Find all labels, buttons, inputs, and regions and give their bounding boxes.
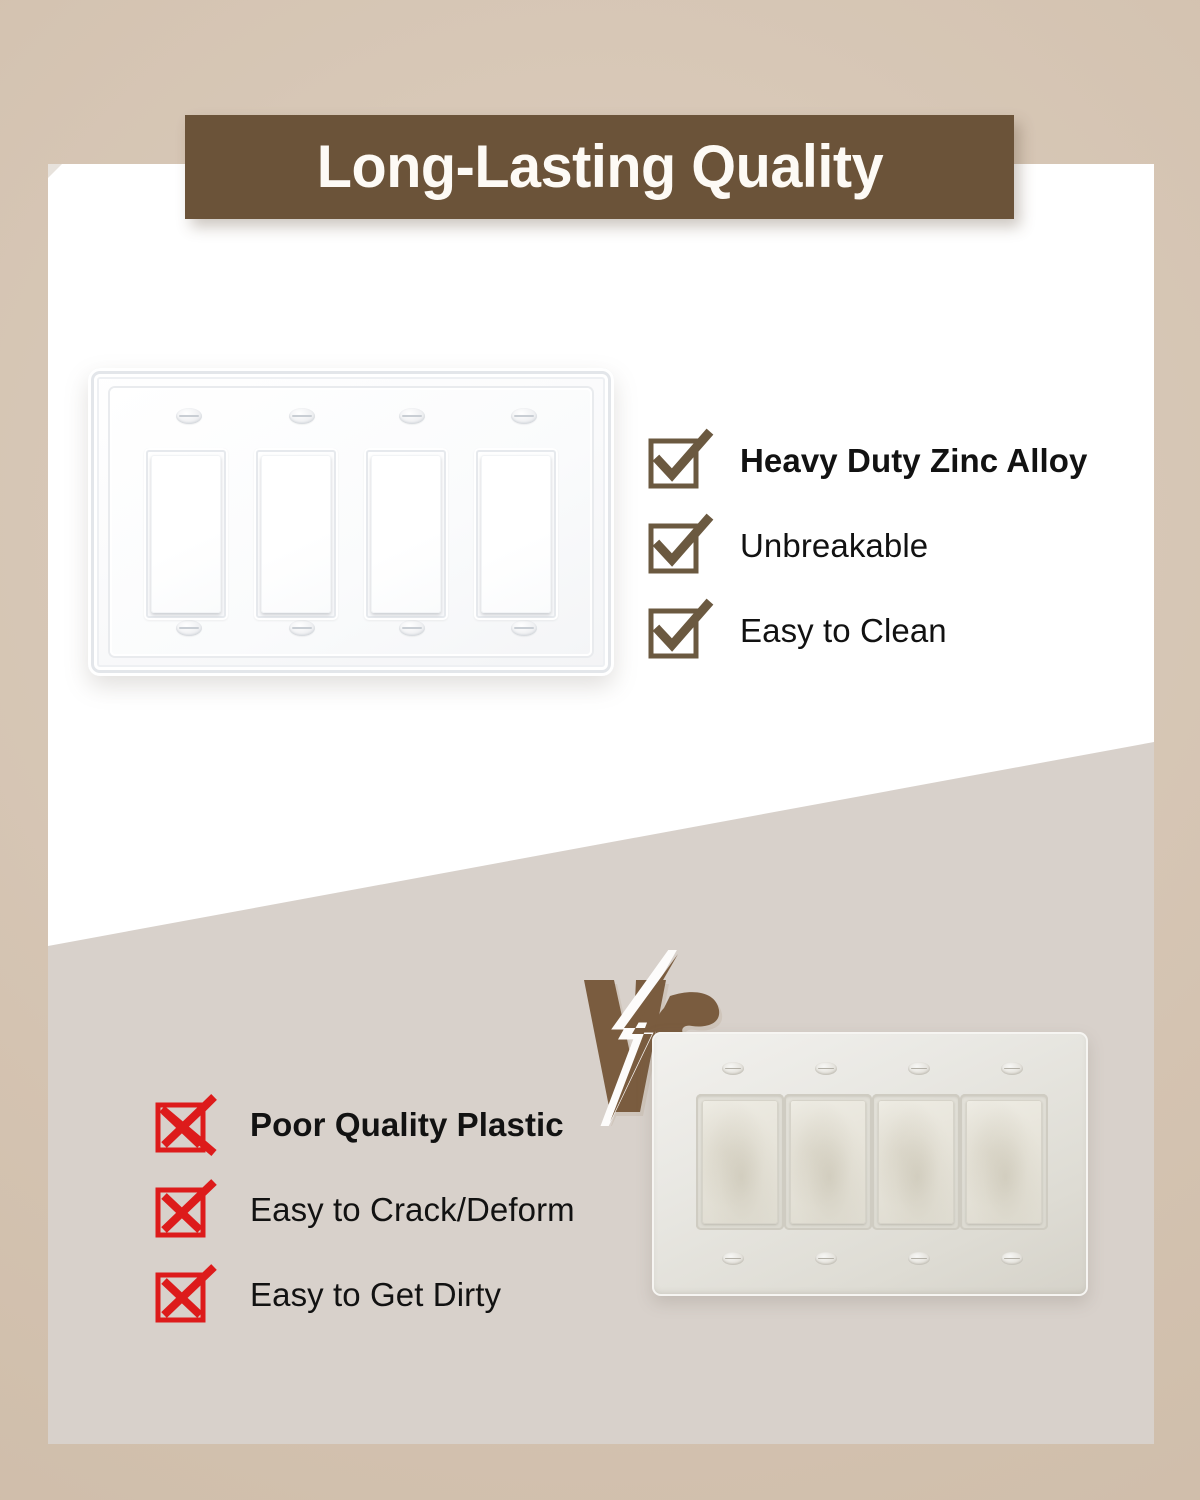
screw-icon	[908, 1252, 930, 1265]
check-box-icon	[651, 522, 698, 569]
check-box-icon	[651, 437, 698, 484]
rocker-switch	[872, 1094, 960, 1230]
rocker-switch	[254, 448, 338, 620]
feature-row: Unbreakable	[651, 503, 1087, 588]
feature-row: Easy to Clean	[651, 588, 1087, 673]
screw-icon	[176, 408, 202, 424]
screw-icon	[399, 620, 425, 636]
rocker-switch	[364, 448, 448, 620]
plate-rockers	[696, 1094, 1048, 1230]
bad-product-wall-plate-image	[652, 1032, 1088, 1296]
feature-label: Heavy Duty Zinc Alloy	[740, 442, 1087, 480]
screw-icon	[1001, 1062, 1023, 1075]
screw-icon	[722, 1062, 744, 1075]
screw-icon	[815, 1252, 837, 1265]
feature-row: Easy to Get Dirty	[158, 1252, 575, 1337]
infographic-canvas: Heavy Duty Zinc Alloy Unbreakable	[0, 0, 1200, 1500]
rocker-switch	[696, 1094, 784, 1230]
screw-icon	[722, 1252, 744, 1265]
feature-label: Poor Quality Plastic	[250, 1106, 564, 1144]
cross-box-icon	[158, 1101, 205, 1148]
page-title: Long-Lasting Quality	[316, 137, 882, 197]
cross-box-icon	[158, 1271, 205, 1318]
card-corner-fold	[48, 164, 62, 178]
feature-label: Easy to Get Dirty	[250, 1276, 501, 1314]
feature-label: Easy to Crack/Deform	[250, 1191, 575, 1229]
rocker-switch	[474, 448, 558, 620]
good-product-wall-plate-image	[88, 368, 614, 676]
feature-row: Poor Quality Plastic	[158, 1082, 575, 1167]
title-banner: Long-Lasting Quality	[185, 115, 1014, 219]
good-feature-list: Heavy Duty Zinc Alloy Unbreakable	[651, 418, 1087, 673]
check-box-icon	[651, 607, 698, 654]
rocker-switch	[960, 1094, 1048, 1230]
rocker-switch	[784, 1094, 872, 1230]
screw-icon	[399, 408, 425, 424]
screw-icon	[511, 408, 537, 424]
cross-box-icon	[158, 1186, 205, 1233]
screw-icon	[176, 620, 202, 636]
screw-icon	[511, 620, 537, 636]
content-card: Heavy Duty Zinc Alloy Unbreakable	[48, 164, 1154, 1444]
feature-label: Easy to Clean	[740, 612, 947, 650]
screw-icon	[1001, 1252, 1023, 1265]
screw-icon	[289, 408, 315, 424]
rocker-switch	[144, 448, 228, 620]
plate-rockers	[144, 448, 558, 620]
bad-feature-list: Poor Quality Plastic Easy to Crack/Defor…	[158, 1082, 575, 1337]
feature-row: Easy to Crack/Deform	[158, 1167, 575, 1252]
feature-label: Unbreakable	[740, 527, 928, 565]
screw-icon	[908, 1062, 930, 1075]
screw-icon	[289, 620, 315, 636]
feature-row: Heavy Duty Zinc Alloy	[651, 418, 1087, 503]
screw-icon	[815, 1062, 837, 1075]
